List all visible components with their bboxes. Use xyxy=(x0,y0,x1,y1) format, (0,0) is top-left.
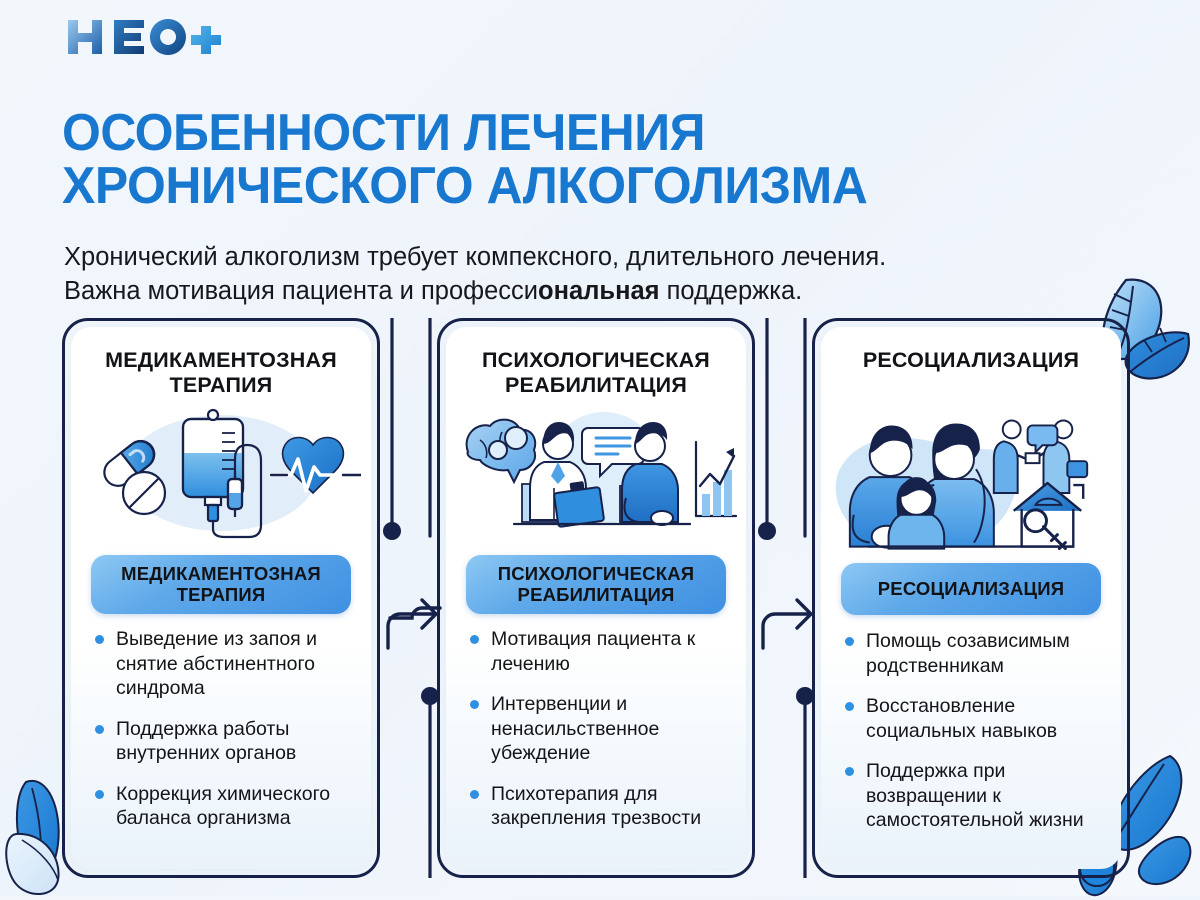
list-item: Восстановление социальных навыков xyxy=(845,694,1107,743)
bullet-dot-icon xyxy=(845,767,854,776)
card-title-2: ПСИХОЛОГИЧЕСКАЯ РЕАБИЛИТАЦИЯ xyxy=(456,348,736,398)
card-title-1-line-1: МЕДИКАМЕНТОЗНАЯ xyxy=(105,348,337,372)
card-2-badge-line-1: ПСИХОЛОГИЧЕСКАЯ xyxy=(498,563,695,584)
card-psychological-rehabilitation[interactable]: ПСИХОЛОГИЧЕСКАЯ РЕАБИЛИТАЦИЯ xyxy=(437,318,755,878)
bullet-dot-icon xyxy=(845,637,854,646)
list-item: Мотивация пациента к лечению xyxy=(470,627,732,676)
bullet-text: Помощь созависимым родственникам xyxy=(866,630,1070,677)
card-title-3: РЕСОЦИАЛИЗАЦИЯ xyxy=(831,348,1111,373)
subtitle-line-2-bold: ональная xyxy=(538,277,660,305)
card-inner-1: МЕДИКАМЕНТОЗНАЯ ТЕРАПИЯ xyxy=(71,327,371,869)
card-1-badge-line-1: МЕДИКАМЕНТОЗНАЯ xyxy=(121,563,321,584)
bullet-dot-icon xyxy=(470,700,479,709)
bullet-text: Мотивация пациента к лечению xyxy=(491,628,695,675)
card-inner-3: РЕСОЦИАЛИЗАЦИЯ xyxy=(821,327,1121,869)
list-item: Помощь созависимым родственникам xyxy=(845,629,1107,678)
bullet-dot-icon xyxy=(470,635,479,644)
list-item: Выведение из запоя и снятие абстинентног… xyxy=(95,627,357,701)
card-2-illustration xyxy=(454,403,738,543)
page-title-line-2: ХРОНИЧЕСКОГО АЛКОГОЛИЗМА xyxy=(62,160,1108,214)
infographic-page: ОСОБЕННОСТИ ЛЕЧЕНИЯ ХРОНИЧЕСКОГО АЛКОГОЛ… xyxy=(0,0,1200,896)
list-item: Коррекция химического баланса организма xyxy=(95,782,357,831)
card-1-badge-line-2: ТЕРАПИЯ xyxy=(177,584,266,605)
cards-row: МЕДИКАМЕНТОЗНАЯ ТЕРАПИЯ xyxy=(0,318,1200,878)
card-resocialization[interactable]: РЕСОЦИАЛИЗАЦИЯ xyxy=(812,318,1130,878)
bullet-dot-icon xyxy=(470,790,479,799)
page-subtitle: Хронический алкоголизм требует компексно… xyxy=(64,240,1124,309)
card-medication-therapy[interactable]: МЕДИКАМЕНТОЗНАЯ ТЕРАПИЯ xyxy=(62,318,380,878)
subtitle-line-2-b: поддержка. xyxy=(660,277,803,305)
card-title-1-line-2: ТЕРАПИЯ xyxy=(170,373,273,397)
card-2-bullet-list: Мотивация пациента к лечению Интервенции… xyxy=(470,627,732,831)
card-3-bullet-list: Помощь созависимым родственникам Восстан… xyxy=(845,629,1107,833)
card-title-1: МЕДИКАМЕНТОЗНАЯ ТЕРАПИЯ xyxy=(81,348,361,398)
bullet-text: Выведение из запоя и снятие абстинентног… xyxy=(116,628,317,699)
card-2-badge[interactable]: ПСИХОЛОГИЧЕСКАЯ РЕАБИЛИТАЦИЯ xyxy=(466,555,726,614)
card-1-bullet-list: Выведение из запоя и снятие абстинентног… xyxy=(95,627,357,831)
family-handshake-house-key-icon xyxy=(829,413,1113,563)
card-title-3-line-1: РЕСОЦИАЛИЗАЦИЯ xyxy=(863,348,1079,372)
brand-logo[interactable] xyxy=(62,14,224,60)
bullet-text: Коррекция химического баланса организма xyxy=(116,783,330,830)
subtitle-line-2-a: Важна мотивация пациента и професси xyxy=(64,277,538,305)
bullet-dot-icon xyxy=(95,635,104,644)
page-title-line-1: ОСОБЕННОСТИ ЛЕЧЕНИЯ xyxy=(62,104,705,162)
bullet-dot-icon xyxy=(95,725,104,734)
page-title: ОСОБЕННОСТИ ЛЕЧЕНИЯ ХРОНИЧЕСКОГО АЛКОГОЛ… xyxy=(62,107,1108,214)
card-inner-2: ПСИХОЛОГИЧЕСКАЯ РЕАБИЛИТАЦИЯ xyxy=(446,327,746,869)
card-1-badge[interactable]: МЕДИКАМЕНТОЗНАЯ ТЕРАПИЯ xyxy=(91,555,351,614)
card-title-2-line-1: ПСИХОЛОГИЧЕСКАЯ xyxy=(482,348,710,372)
list-item: Поддержка при возвращении к самостоятель… xyxy=(845,759,1107,833)
bullet-text: Психотерапия для закрепления трезвости xyxy=(491,783,701,830)
card-3-badge-line-1: РЕСОЦИАЛИЗАЦИЯ xyxy=(878,578,1065,599)
bullet-text: Поддержка при возвращении к самостоятель… xyxy=(866,760,1084,831)
card-title-2-line-2: РЕАБИЛИТАЦИЯ xyxy=(505,373,687,397)
bullet-text: Интервенции и ненасильственное убеждение xyxy=(491,693,659,764)
card-1-illustration xyxy=(79,403,363,543)
bullet-dot-icon xyxy=(845,702,854,711)
bullet-text: Восстановление социальных навыков xyxy=(866,695,1057,742)
subtitle-line-1: Хронический алкоголизм требует компексно… xyxy=(64,243,886,271)
list-item: Интервенции и ненасильственное убеждение xyxy=(470,692,732,766)
list-item: Психотерапия для закрепления трезвости xyxy=(470,782,732,831)
list-item: Поддержка работы внутренних органов xyxy=(95,717,357,766)
card-2-badge-line-2: РЕАБИЛИТАЦИЯ xyxy=(518,584,675,605)
therapy-session-brain-chart-icon xyxy=(454,406,738,540)
card-3-illustration xyxy=(829,413,1113,563)
neo-plus-logo-icon xyxy=(62,14,224,60)
bullet-text: Поддержка работы внутренних органов xyxy=(116,718,296,765)
pills-iv-drip-heartbeat-icon xyxy=(81,407,361,539)
bullet-dot-icon xyxy=(95,790,104,799)
card-3-badge[interactable]: РЕСОЦИАЛИЗАЦИЯ xyxy=(841,563,1101,615)
